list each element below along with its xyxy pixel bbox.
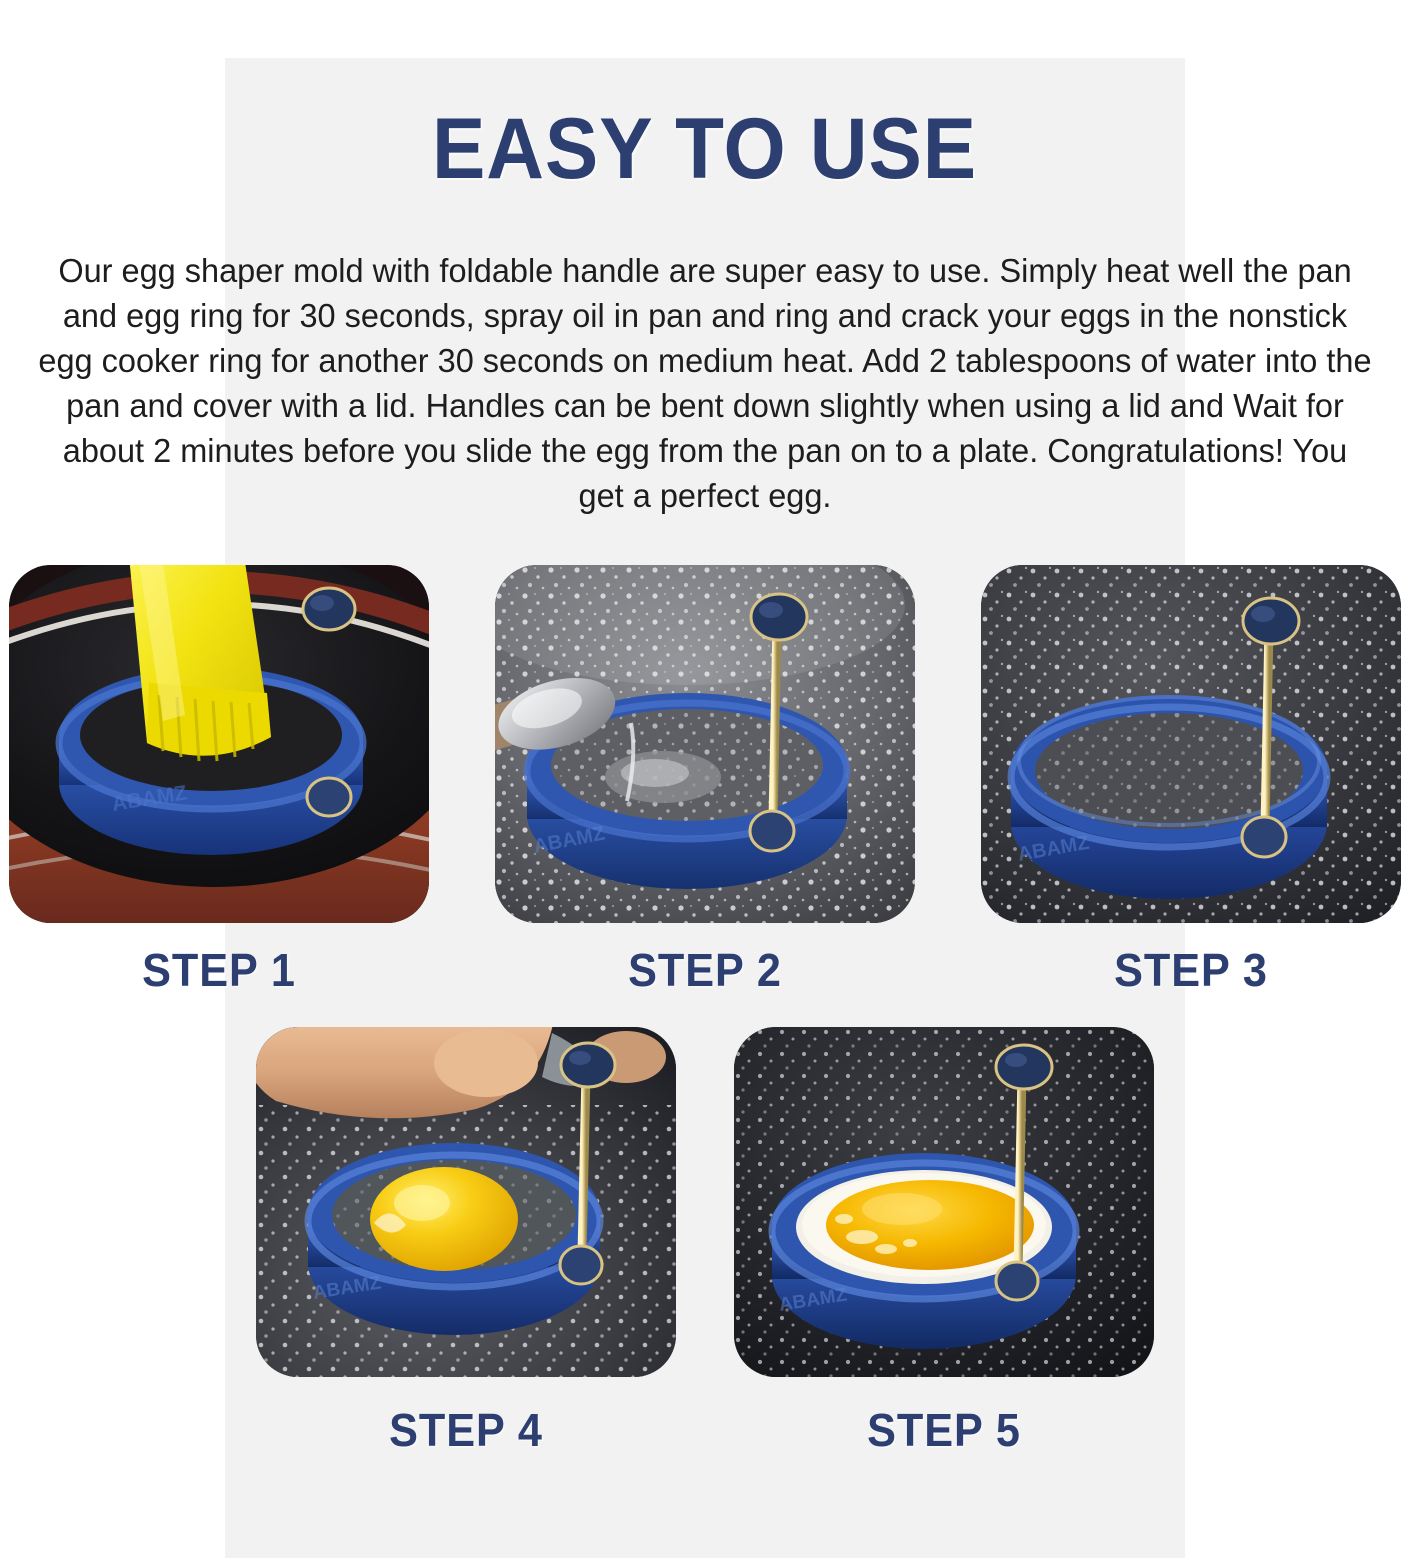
step-1-label: STEP 1 xyxy=(21,943,416,997)
step-5-photo: ABAMZ xyxy=(734,1027,1154,1377)
step-4-illustration: ABAMZ xyxy=(256,1027,676,1377)
step-card-5: ABAMZ STEP 5 xyxy=(734,1027,1154,1457)
step-3-illustration: ABAMZ xyxy=(981,565,1401,923)
step-card-3: ABAMZ STEP 3 xyxy=(981,565,1401,997)
step-2-photo: ABAMZ xyxy=(495,565,915,923)
step-1-illustration: ABAMZ xyxy=(9,565,429,923)
step-card-4: ABAMZ STEP 4 xyxy=(256,1027,676,1457)
easy-to-use-infographic: EASY TO USE Our egg shaper mold with fol… xyxy=(0,58,1409,1558)
intro-paragraph: Our egg shaper mold with foldable handle… xyxy=(35,249,1374,519)
steps-row-2: ABAMZ STEP 4 xyxy=(0,1027,1409,1457)
steps-row-1: ABAMZ STEP 1 xyxy=(0,565,1409,997)
step-card-2: ABAMZ STEP 2 xyxy=(495,565,915,997)
step-2-label: STEP 2 xyxy=(507,943,902,997)
step-5-illustration: ABAMZ xyxy=(734,1027,1154,1377)
step-1-photo: ABAMZ xyxy=(9,565,429,923)
step-4-label: STEP 4 xyxy=(268,1403,663,1457)
page-title: EASY TO USE xyxy=(49,58,1359,192)
step-4-photo: ABAMZ xyxy=(256,1027,676,1377)
step-5-label: STEP 5 xyxy=(746,1403,1141,1457)
step-3-photo: ABAMZ xyxy=(981,565,1401,923)
step-card-1: ABAMZ STEP 1 xyxy=(9,565,429,997)
step-3-label: STEP 3 xyxy=(993,943,1388,997)
step-2-illustration: ABAMZ xyxy=(495,565,915,923)
